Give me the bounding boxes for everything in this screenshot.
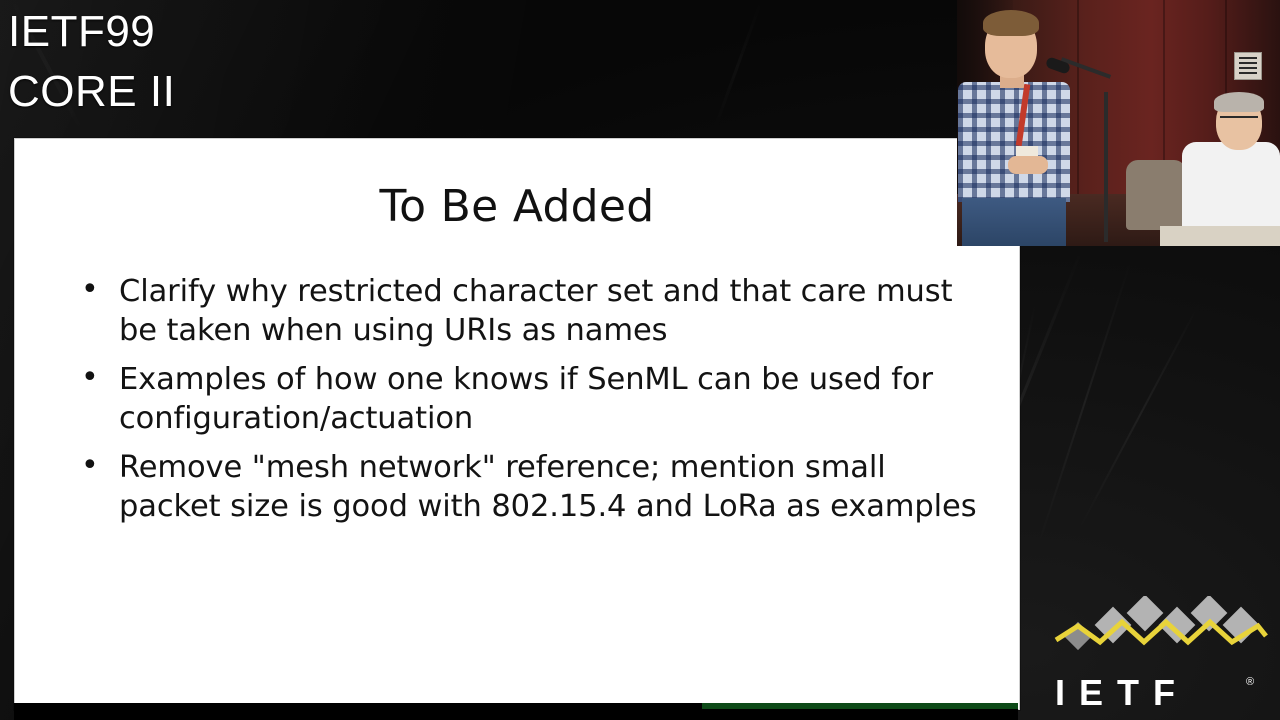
session-title-line-2: CORE II — [8, 62, 175, 122]
microphone-stand — [1104, 92, 1108, 242]
slide-bullet-item: Clarify why restricted character set and… — [71, 272, 979, 350]
chair — [1126, 160, 1186, 230]
presenter-jeans — [962, 198, 1066, 246]
presenter-shirt — [958, 82, 1070, 202]
wall-sign-bars — [1239, 57, 1257, 75]
session-title-line-1: IETF99 — [8, 7, 155, 56]
panel-table — [1160, 226, 1280, 246]
session-title: IETF99 CORE II — [8, 2, 175, 122]
slide-bullet-list: Clarify why restricted character set and… — [15, 272, 1019, 526]
slide-bottom-strip — [14, 703, 1018, 720]
wall-sign — [1234, 52, 1262, 80]
panelist-hair — [1214, 92, 1264, 112]
presenter-hair — [983, 10, 1039, 36]
curtain-seam — [1077, 0, 1079, 200]
slide-title: To Be Added — [15, 181, 1019, 232]
presenter-hands — [1008, 156, 1048, 174]
slide-bullet-item: Examples of how one knows if SenML can b… — [71, 360, 979, 438]
registered-mark: ® — [1246, 676, 1254, 688]
slide-bullet-item: Remove "mesh network" reference; mention… — [71, 448, 979, 526]
slide-progress-strip — [702, 703, 1018, 709]
ietf-wordmark: IETF — [1055, 672, 1189, 714]
glasses-icon — [1220, 116, 1258, 125]
video-stream-stage: IETF99 CORE II To Be Added Clarify why r… — [0, 0, 1280, 720]
presentation-slide: To Be Added Clarify why restricted chara… — [14, 138, 1020, 710]
